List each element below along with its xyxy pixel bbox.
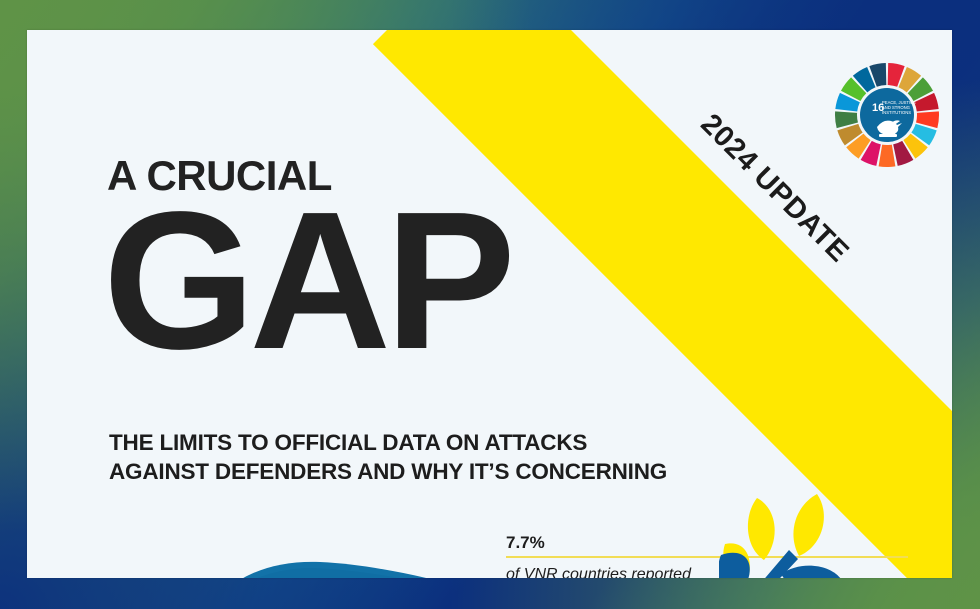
subtitle-line-1: THE LIMITS TO OFFICIAL DATA ON ATTACKS [109, 429, 749, 458]
cover-card: 2024 UPDATE 16 PEACE, JUSTICE AND STRONG… [27, 30, 952, 578]
subtitle-line-2: AGAINST DEFENDERS AND WHY IT’S CONCERNIN… [109, 458, 749, 487]
subtitle-block: THE LIMITS TO OFFICIAL DATA ON ATTACKS A… [109, 429, 749, 487]
headline-block: A CRUCIAL GAP [103, 155, 723, 364]
poster-canvas: 2024 UPDATE 16 PEACE, JUSTICE AND STRONG… [0, 0, 980, 609]
sdg-wheel-segment [879, 145, 896, 167]
blue-wave-leaf-icon [212, 554, 542, 578]
sdg-goal-title-line3: INSTITUTIONS [882, 110, 911, 115]
sdg-wheel-icon: 16 PEACE, JUSTICE AND STRONG INSTITUTION… [833, 61, 941, 169]
sprout-graphic-icon [719, 478, 919, 578]
headline-word: GAP [103, 199, 723, 364]
